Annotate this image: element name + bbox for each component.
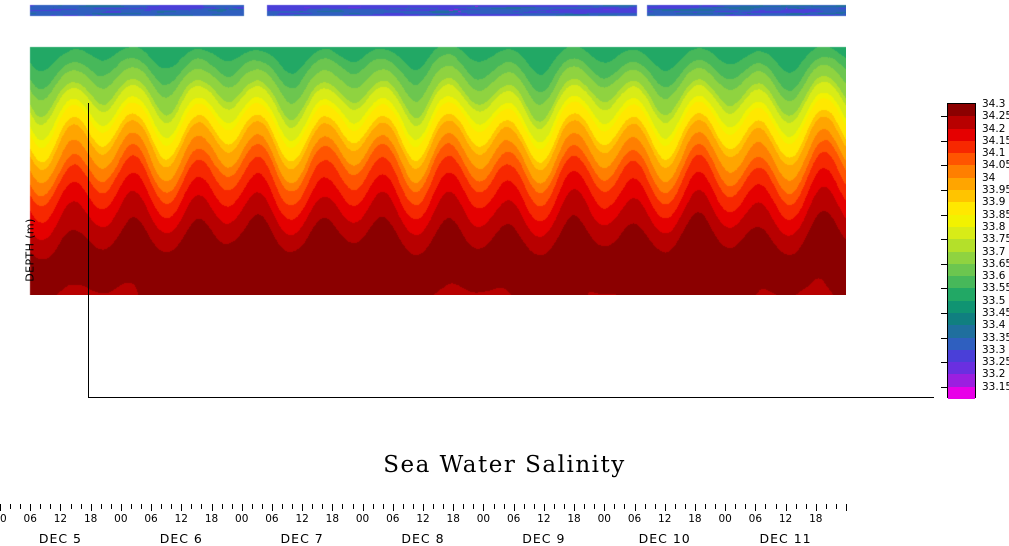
colorbar-swatch [948, 313, 975, 326]
time-tick [20, 504, 21, 509]
time-tick-label: 00 [0, 513, 7, 525]
time-tick [755, 504, 756, 511]
time-tick [765, 504, 766, 509]
time-tick-label: 06 [749, 513, 762, 525]
time-tick [685, 504, 686, 509]
time-tick [554, 504, 555, 509]
colorbar-label: 34.2 [982, 123, 1005, 135]
time-tick [282, 504, 283, 509]
day-label: DEC 5 [39, 531, 82, 546]
time-tick [60, 504, 61, 511]
time-tick [453, 504, 454, 511]
time-tick [624, 504, 625, 509]
time-tick [393, 504, 394, 511]
time-tick [161, 504, 162, 509]
time-tick [796, 504, 797, 509]
colorbar-tick [941, 387, 948, 388]
time-tick-label: 06 [507, 513, 520, 525]
time-tick [745, 504, 746, 509]
colorbar-tick [941, 116, 948, 117]
colorbar-swatch [948, 239, 975, 252]
colorbar-swatch [948, 178, 975, 191]
colorbar-swatch [948, 153, 975, 166]
time-tick [504, 504, 505, 509]
time-tick-label: 06 [24, 513, 37, 525]
time-tick [242, 504, 243, 511]
time-tick-label: 12 [295, 513, 308, 525]
time-tick-label: 00 [356, 513, 369, 525]
colorbar-swatch [948, 264, 975, 277]
colorbar-label: 33.15 [982, 381, 1009, 393]
time-tick [695, 504, 696, 511]
colorbar-swatch [948, 190, 975, 203]
time-tick [363, 504, 364, 511]
colorbar-swatch [948, 325, 975, 338]
colorbar-label: 34 [982, 172, 995, 184]
time-tick-label: 18 [205, 513, 218, 525]
colorbar-swatch [948, 276, 975, 289]
day-label: DEC 10 [639, 531, 691, 546]
time-tick [141, 504, 142, 509]
time-tick-label: 00 [114, 513, 127, 525]
colorbar-label: 33.55 [982, 282, 1009, 294]
time-tick [776, 504, 777, 509]
time-tick-label: 18 [447, 513, 460, 525]
time-tick [645, 504, 646, 509]
time-tick [494, 504, 495, 509]
colorbar-tick [941, 215, 948, 216]
time-tick [121, 504, 122, 511]
day-label: DEC 11 [759, 531, 811, 546]
colorbar-swatch [948, 202, 975, 215]
time-tick [81, 504, 82, 509]
colorbar-swatch [948, 116, 975, 129]
time-tick [40, 504, 41, 509]
day-label: DEC 7 [281, 531, 324, 546]
time-tick [302, 504, 303, 511]
time-tick [131, 504, 132, 509]
time-tick [665, 504, 666, 511]
colorbar-label: 33.8 [982, 221, 1005, 233]
colorbar-swatch [948, 141, 975, 154]
time-tick-label: 00 [718, 513, 731, 525]
plot-area: 2060100140180220260300 00061218000612180… [0, 0, 846, 295]
colorbar-label: 34.3 [982, 98, 1005, 110]
time-tick [826, 504, 827, 509]
time-tick-label: 12 [416, 513, 429, 525]
time-tick-label: 12 [54, 513, 67, 525]
salinity-contour-field [0, 0, 846, 295]
time-tick [524, 504, 525, 509]
time-tick [836, 504, 837, 509]
time-tick [413, 504, 414, 509]
time-tick [715, 504, 716, 509]
colorbar-tick [941, 190, 948, 191]
time-tick-label: 12 [537, 513, 550, 525]
time-tick [71, 504, 72, 509]
time-tick-label: 18 [567, 513, 580, 525]
time-tick-label: 06 [386, 513, 399, 525]
time-tick [473, 504, 474, 509]
time-tick [30, 504, 31, 511]
colorbar-label: 34.1 [982, 147, 1005, 159]
time-tick [705, 504, 706, 509]
time-tick [655, 504, 656, 509]
time-tick-label: 00 [235, 513, 248, 525]
time-tick-label: 18 [326, 513, 339, 525]
colorbar-label: 33.6 [982, 270, 1005, 282]
colorbar-label: 33.9 [982, 196, 1005, 208]
colorbar-label: 33.4 [982, 319, 1005, 331]
time-tick [171, 504, 172, 509]
time-tick-label: 06 [144, 513, 157, 525]
time-tick [433, 504, 434, 509]
time-tick [191, 504, 192, 509]
colorbar-swatch [948, 104, 975, 117]
time-tick [0, 504, 1, 511]
time-tick-label: 06 [265, 513, 278, 525]
colorbar-label: 33.45 [982, 307, 1009, 319]
time-tick [222, 504, 223, 509]
colorbar-label: 33.65 [982, 258, 1009, 270]
time-tick [101, 504, 102, 509]
time-tick-label: 18 [809, 513, 822, 525]
colorbar-swatch [948, 387, 975, 400]
colorbar-swatch [948, 165, 975, 178]
time-tick [353, 504, 354, 509]
depth-axis-title: DEPTH (m) [24, 218, 37, 281]
colorbar-label: 34.25 [982, 110, 1009, 122]
figure-caption: Sea Water Salinity [0, 452, 1009, 478]
time-tick-label: 00 [598, 513, 611, 525]
colorbar-tick [941, 141, 948, 142]
time-tick [181, 504, 182, 511]
time-tick [594, 504, 595, 509]
time-tick [423, 504, 424, 511]
time-tick [332, 504, 333, 511]
colorbar-tick [941, 338, 948, 339]
time-tick-label: 18 [688, 513, 701, 525]
colorbar-swatch [948, 338, 975, 351]
time-tick [403, 504, 404, 509]
time-tick [383, 504, 384, 509]
colorbar-swatch [948, 129, 975, 142]
colorbar-swatch [948, 252, 975, 265]
time-tick [614, 504, 615, 509]
time-tick [846, 504, 847, 511]
time-tick [312, 504, 313, 509]
time-tick [735, 504, 736, 509]
colorbar-label: 34.05 [982, 159, 1009, 171]
time-tick [725, 504, 726, 511]
time-tick [786, 504, 787, 511]
colorbar-tick [941, 288, 948, 289]
time-tick [544, 504, 545, 511]
time-tick [574, 504, 575, 511]
time-tick [564, 504, 565, 509]
time-tick [514, 504, 515, 511]
time-tick [151, 504, 152, 511]
time-tick [201, 504, 202, 509]
time-tick [443, 504, 444, 509]
colorbar-tick [941, 362, 948, 363]
colorbar-label: 33.7 [982, 246, 1005, 258]
colorbar-swatch [948, 374, 975, 387]
time-tick [534, 504, 535, 509]
colorbar-swatch [948, 301, 975, 314]
time-tick-label: 18 [84, 513, 97, 525]
colorbar-label: 33.5 [982, 295, 1005, 307]
time-tick [262, 504, 263, 509]
colorbar-tick [941, 313, 948, 314]
time-tick [91, 504, 92, 511]
colorbar-label: 34.15 [982, 135, 1009, 147]
time-tick [272, 504, 273, 511]
time-tick [50, 504, 51, 509]
time-tick [816, 504, 817, 511]
time-tick-label: 12 [658, 513, 671, 525]
colorbar-swatch [948, 215, 975, 228]
colorbar-swatch [948, 350, 975, 363]
time-tick [373, 504, 374, 509]
time-tick [806, 504, 807, 509]
colorbar-label: 33.85 [982, 209, 1009, 221]
day-label: DEC 8 [401, 531, 444, 546]
time-tick [111, 504, 112, 509]
time-tick [342, 504, 343, 509]
time-tick [584, 504, 585, 509]
colorbar-label: 33.35 [982, 332, 1009, 344]
time-tick [675, 504, 676, 509]
time-tick [252, 504, 253, 509]
colorbar-tick [941, 239, 948, 240]
colorbar-label: 33.25 [982, 356, 1009, 368]
day-label: DEC 9 [522, 531, 565, 546]
day-label: DEC 6 [160, 531, 203, 546]
time-tick [292, 504, 293, 509]
colorbar-label: 33.95 [982, 184, 1009, 196]
colorbar-swatch [948, 362, 975, 375]
time-tick [604, 504, 605, 511]
time-tick [483, 504, 484, 511]
colorbar-tick [941, 264, 948, 265]
colorbar-label: 33.75 [982, 233, 1009, 245]
colorbar-tick [941, 165, 948, 166]
time-tick [322, 504, 323, 509]
time-tick [212, 504, 213, 511]
time-tick-label: 12 [779, 513, 792, 525]
time-tick-label: 06 [628, 513, 641, 525]
colorbar-swatch [948, 288, 975, 301]
time-tick-label: 00 [477, 513, 490, 525]
time-tick [10, 504, 11, 509]
time-tick-label: 12 [175, 513, 188, 525]
colorbar-label: 33.2 [982, 368, 1005, 380]
time-tick [635, 504, 636, 511]
time-tick [463, 504, 464, 509]
colorbar-label: 33.3 [982, 344, 1005, 356]
colorbar-swatch [948, 227, 975, 240]
colorbar: 34.334.2534.234.1534.134.053433.9533.933… [947, 103, 976, 398]
time-tick [232, 504, 233, 509]
